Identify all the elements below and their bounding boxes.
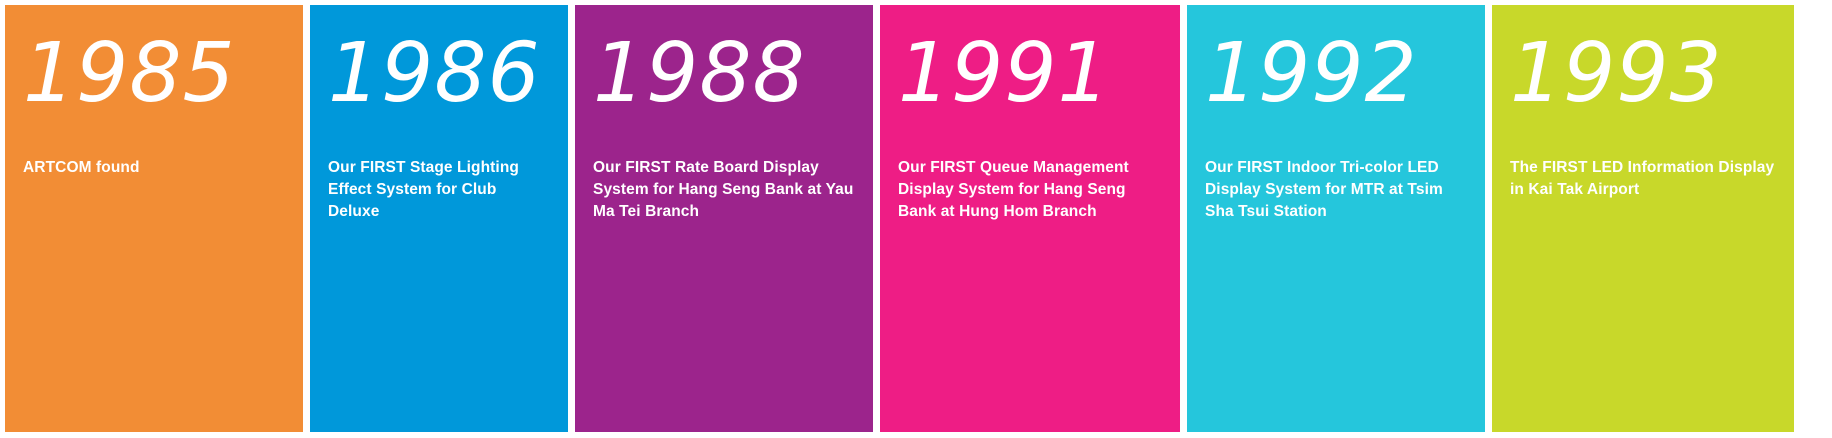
timeline-year-label: 1993 [1510, 31, 1723, 117]
timeline-description: Our FIRST Queue Management Display Syste… [898, 157, 1164, 223]
timeline-panel-1988[interactable]: 1988 Our FIRST Rate Board Display System… [575, 5, 873, 432]
timeline-year-label: 1986 [328, 31, 541, 117]
timeline-panel-1993[interactable]: 1993 The FIRST LED Information Display i… [1492, 5, 1794, 432]
timeline-description: The FIRST LED Information Display in Kai… [1510, 157, 1778, 201]
timeline-description: ARTCOM found [23, 157, 287, 179]
timeline-description: Our FIRST Indoor Tri-color LED Display S… [1205, 157, 1469, 223]
timeline-panel-1991[interactable]: 1991 Our FIRST Queue Management Display … [880, 5, 1180, 432]
timeline-description: Our FIRST Stage Lighting Effect System f… [328, 157, 552, 223]
timeline-year-label: 1988 [593, 31, 806, 117]
timeline-year-label: 1991 [898, 31, 1111, 117]
timeline-year-label: 1992 [1205, 31, 1418, 117]
timeline-panel-1985[interactable]: 1985 ARTCOM found [5, 5, 303, 432]
company-milestone-timeline: 1985 ARTCOM found 1986 Our FIRST Stage L… [0, 0, 1832, 438]
timeline-panel-1992[interactable]: 1992 Our FIRST Indoor Tri-color LED Disp… [1187, 5, 1485, 432]
timeline-panel-1986[interactable]: 1986 Our FIRST Stage Lighting Effect Sys… [310, 5, 568, 432]
timeline-year-label: 1985 [23, 31, 236, 117]
timeline-description: Our FIRST Rate Board Display System for … [593, 157, 857, 223]
